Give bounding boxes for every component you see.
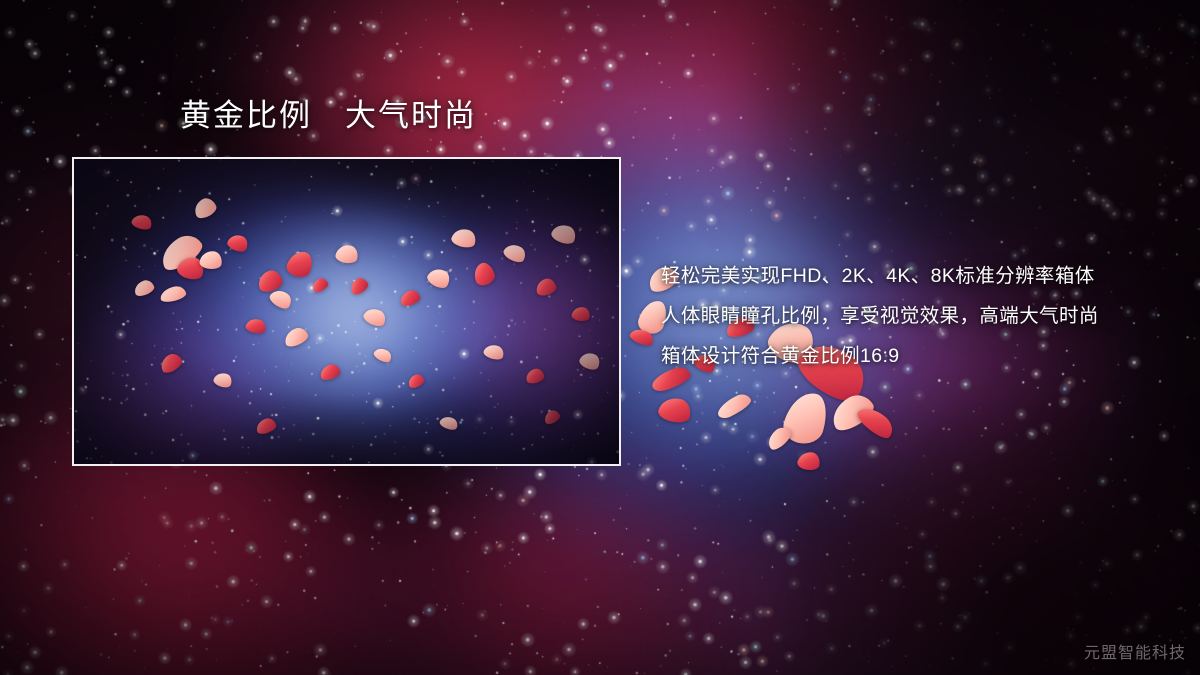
photo-vignette	[74, 159, 619, 464]
presentation-slide: 黄金比例 大气时尚 轻松完美实现FHD、2K、4K、8K标准分辨率箱体 人体眼睛…	[0, 0, 1200, 675]
description-line-3: 箱体设计符合黄金比例16:9	[661, 336, 1181, 376]
page-title: 黄金比例 大气时尚	[180, 99, 477, 134]
description-line-1: 轻松完美实现FHD、2K、4K、8K标准分辨率箱体	[661, 256, 1181, 296]
photo-image	[74, 159, 619, 464]
framed-photo	[72, 157, 621, 466]
description-line-2: 人体眼睛瞳孔比例，享受视觉效果，高端大气时尚	[661, 296, 1181, 336]
watermark: 元盟智能科技	[1084, 639, 1186, 663]
feature-description: 轻松完美实现FHD、2K、4K、8K标准分辨率箱体 人体眼睛瞳孔比例，享受视觉效…	[661, 256, 1181, 376]
vignette-bottom-right	[780, 405, 1200, 675]
